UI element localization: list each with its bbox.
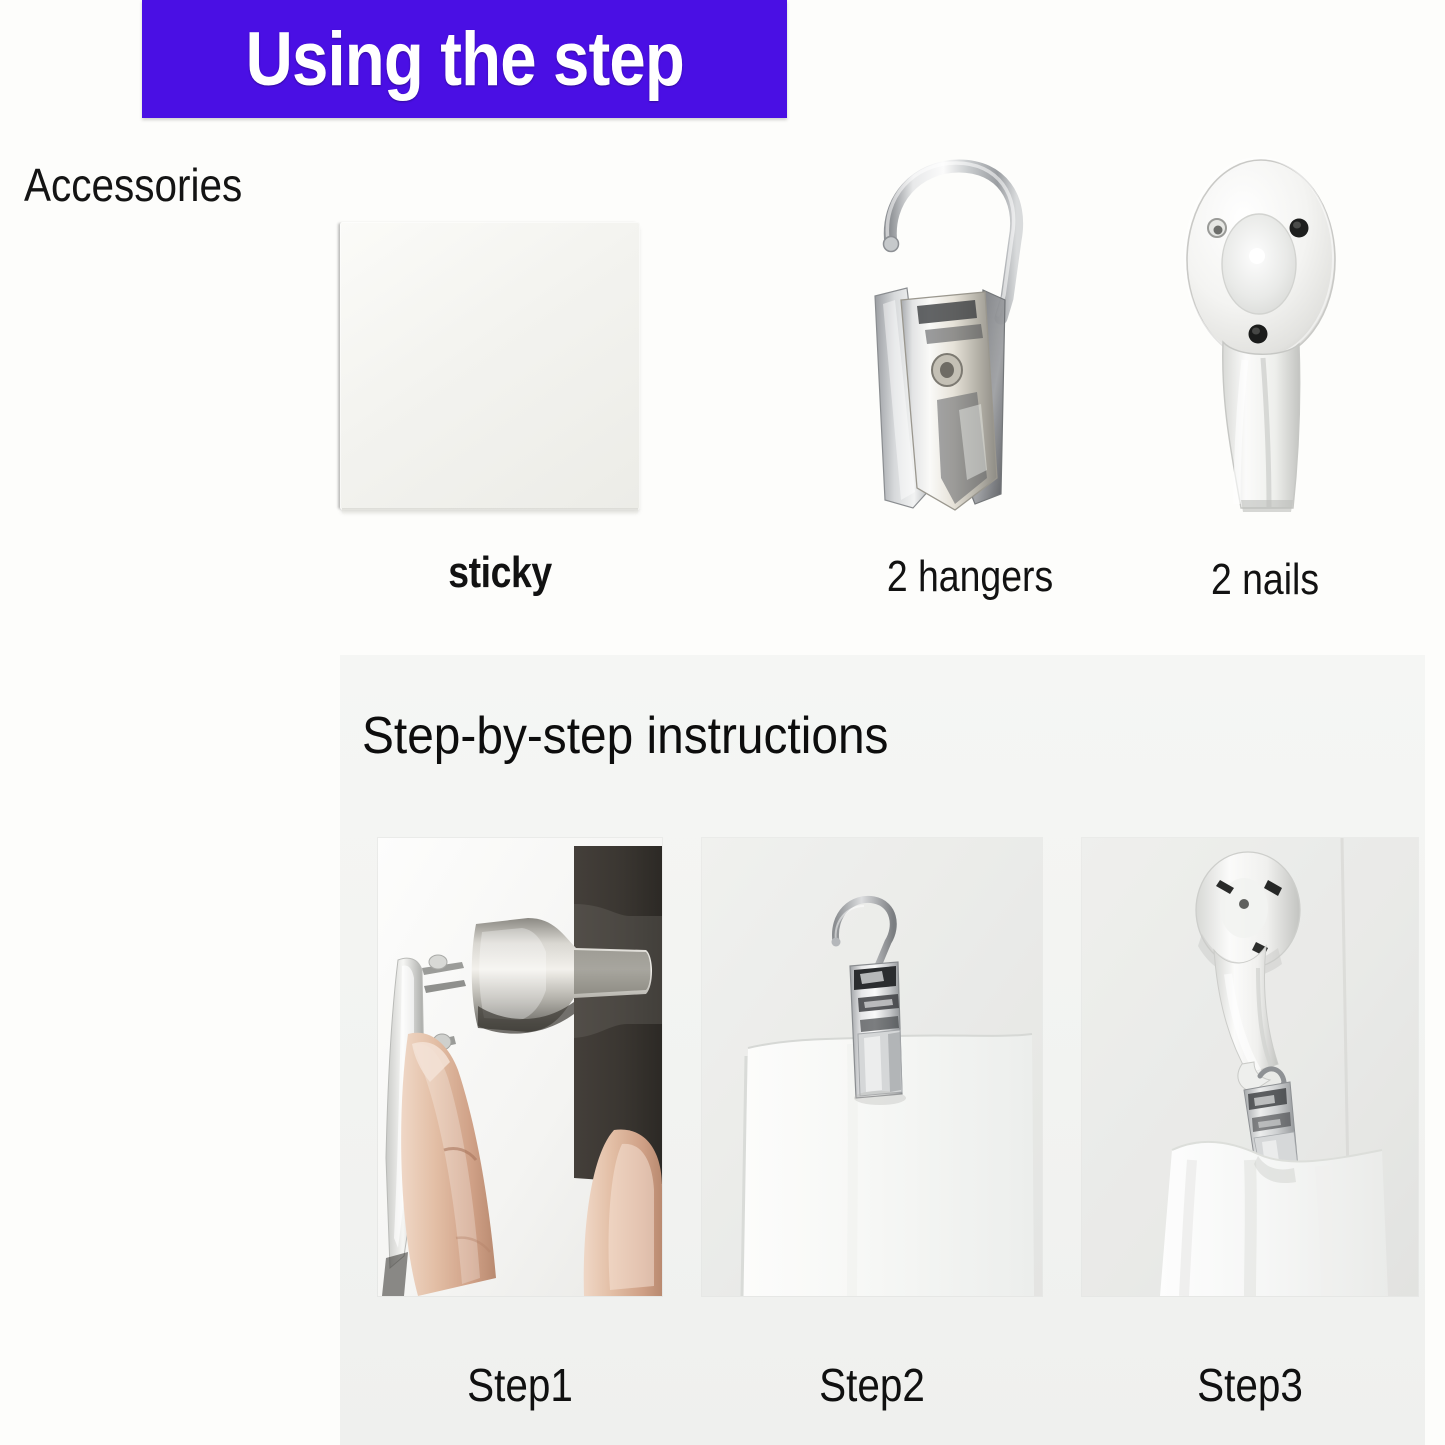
- page-title: Using the step: [245, 16, 683, 103]
- accessory-caption-hangers: 2 hangers: [851, 552, 1089, 602]
- step-2-photo: [702, 838, 1042, 1296]
- step-1-caption: Step1: [395, 1358, 645, 1412]
- accessory-caption-nails: 2 nails: [1172, 555, 1359, 605]
- wall-hook-nail-icon: [1175, 152, 1350, 532]
- hook-clip-icon: [855, 148, 1065, 538]
- step-1-photo: [378, 838, 662, 1296]
- accessories-section-label: Accessories: [24, 158, 242, 212]
- adhesive-pad-icon: [340, 222, 640, 510]
- step-3-photo: [1082, 838, 1418, 1296]
- accessory-caption-sticky: sticky: [381, 548, 619, 598]
- step-3-caption: Step3: [1102, 1358, 1398, 1412]
- title-banner: Using the step: [142, 0, 787, 118]
- step-2-caption: Step2: [722, 1358, 1021, 1412]
- product-instruction-page: Using the step Accessories: [0, 0, 1445, 1445]
- instructions-section-title: Step-by-step instructions: [362, 706, 888, 766]
